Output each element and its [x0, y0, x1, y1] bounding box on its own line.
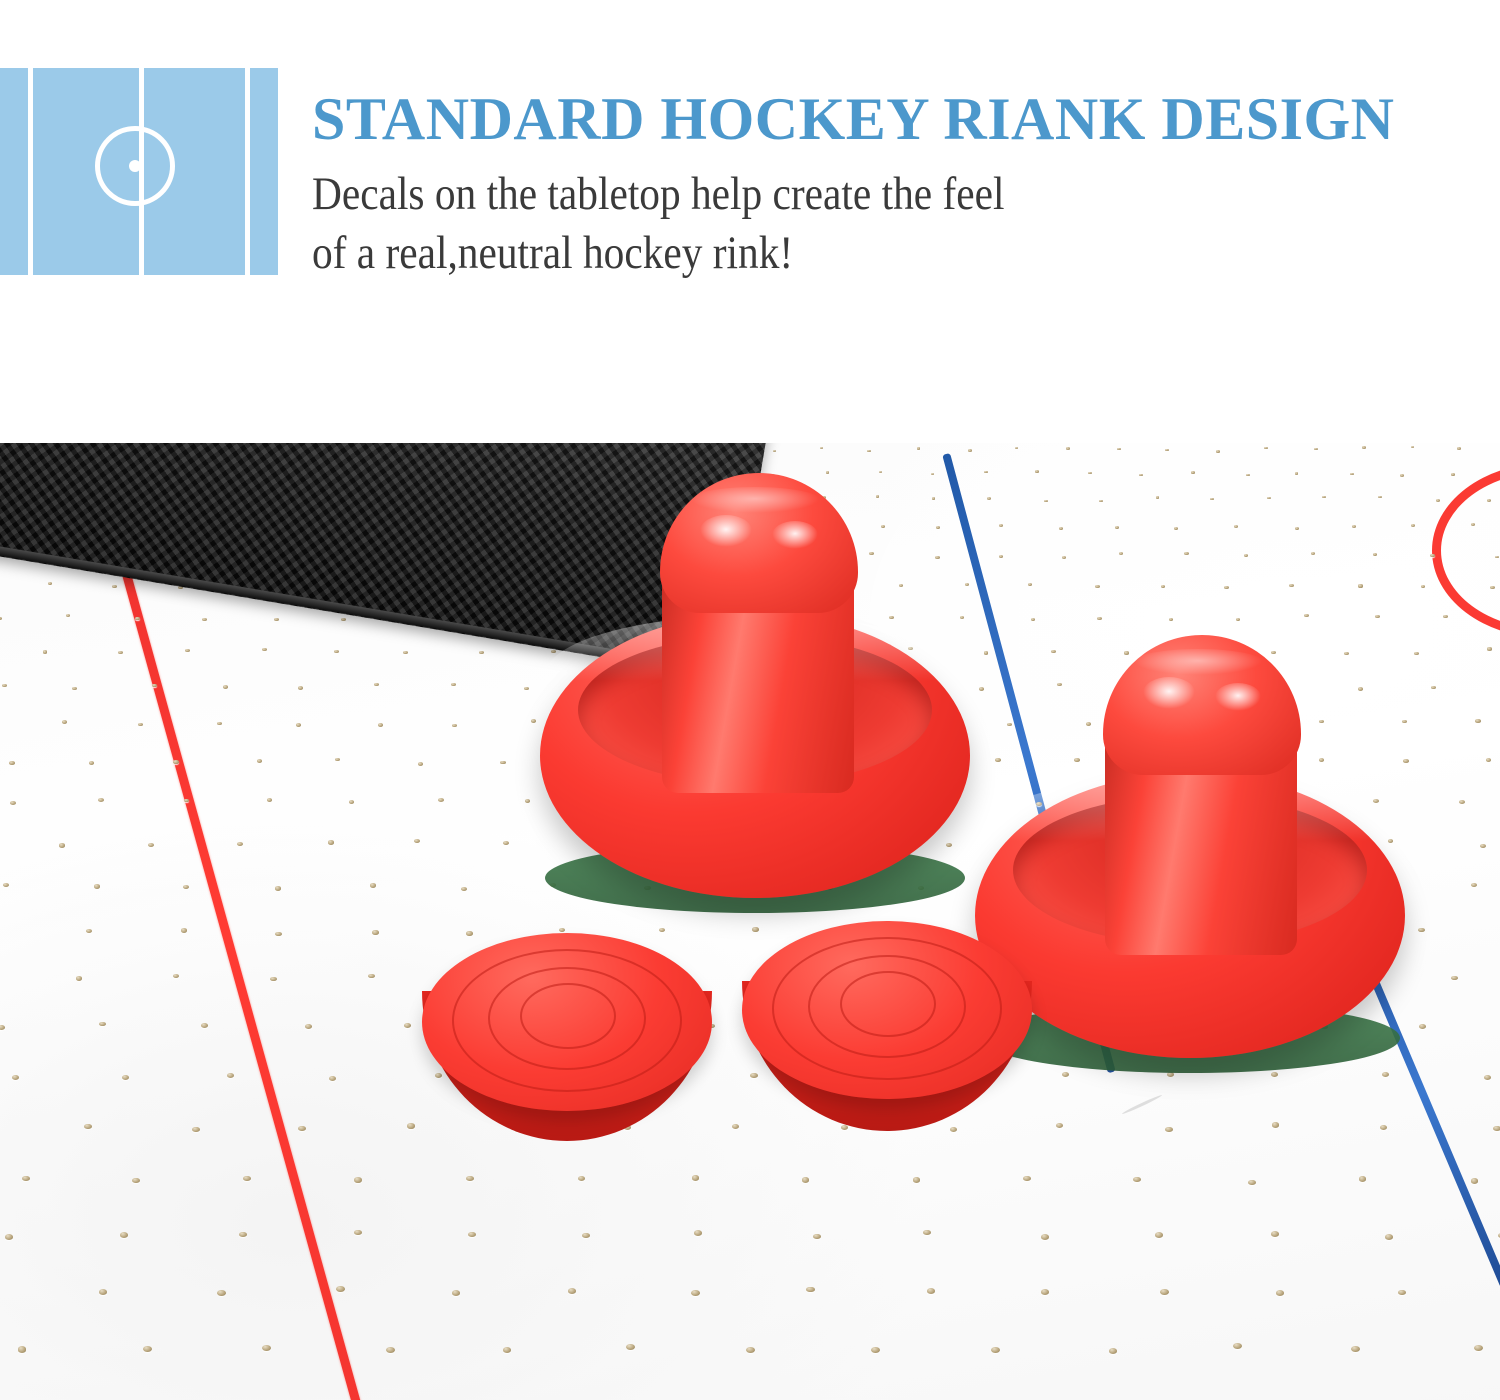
air-hole	[349, 800, 355, 804]
air-hole	[826, 471, 830, 474]
air-hole	[1486, 758, 1491, 762]
air-hole	[372, 930, 378, 934]
air-hole	[1295, 472, 1299, 475]
air-hole	[1271, 1231, 1279, 1237]
air-hole	[503, 1347, 512, 1353]
air-hole	[1174, 527, 1178, 530]
air-hole	[1490, 586, 1494, 589]
air-hole	[132, 1178, 140, 1183]
air-hole	[936, 526, 940, 529]
air-hole	[305, 1024, 312, 1029]
air-hole	[354, 1230, 362, 1236]
air-hole	[262, 648, 267, 651]
air-hole	[1358, 584, 1362, 587]
air-hole	[43, 650, 48, 653]
air-hole	[1028, 583, 1032, 586]
air-hole	[1051, 650, 1056, 653]
air-hole	[626, 1344, 635, 1350]
air-hole	[479, 651, 484, 654]
air-hole	[227, 1073, 234, 1078]
air-hole	[1184, 552, 1188, 555]
air-hole	[461, 887, 467, 891]
air-hole	[950, 1127, 957, 1132]
air-hole	[946, 843, 952, 847]
air-hole	[334, 650, 339, 653]
air-hole	[1380, 1125, 1387, 1130]
air-hole	[152, 684, 157, 687]
air-hole	[802, 1177, 810, 1182]
air-hole	[1487, 647, 1492, 650]
air-hole	[452, 724, 457, 728]
air-hole	[354, 1177, 362, 1182]
puck-groove-ring	[840, 971, 936, 1037]
air-hole	[1234, 525, 1238, 528]
air-hole	[135, 617, 140, 620]
air-hole	[89, 761, 94, 765]
air-hole	[257, 759, 262, 763]
air-hole	[1074, 758, 1079, 762]
air-hole	[274, 618, 279, 621]
air-hole	[503, 841, 509, 845]
air-hole	[917, 447, 921, 450]
air-hole	[1041, 1289, 1049, 1295]
air-hole	[270, 977, 277, 982]
air-hole	[1117, 448, 1121, 451]
air-hole	[999, 524, 1003, 527]
air-hole	[86, 929, 92, 933]
air-hole	[1246, 474, 1250, 477]
air-hockey-table-photo	[0, 443, 1500, 1400]
rink-panel-1	[0, 68, 28, 275]
air-hole	[1400, 474, 1404, 477]
air-hole	[76, 976, 83, 981]
air-hole	[217, 1290, 225, 1296]
air-hole	[752, 927, 758, 931]
air-hole	[551, 650, 556, 653]
air-hole	[531, 719, 536, 723]
air-hole	[1418, 928, 1424, 932]
air-hole	[1319, 758, 1324, 762]
air-hole	[435, 1073, 442, 1078]
air-hole	[867, 450, 871, 453]
air-hole	[328, 840, 334, 844]
air-hole	[908, 647, 913, 650]
air-hole	[138, 723, 143, 727]
air-hole	[1095, 585, 1099, 588]
air-hole	[336, 1286, 344, 1292]
air-hole	[1430, 554, 1434, 557]
subhead-text-line-2: of a real,neutral hockey rink!	[312, 225, 1368, 282]
air-hole	[12, 1075, 19, 1080]
air-hole	[370, 883, 376, 887]
air-hole	[1474, 1345, 1483, 1351]
air-hole	[1088, 472, 1092, 475]
air-hole	[1161, 585, 1165, 588]
rink-center-dot-icon	[129, 160, 141, 172]
air-hole	[1295, 527, 1299, 530]
air-hole	[368, 974, 375, 979]
air-hole	[1066, 447, 1070, 450]
air-hole	[1109, 1348, 1118, 1354]
product-feature-banner: STANDARD HOCKEY RIANK DESIGN Decals on t…	[0, 0, 1500, 1400]
air-hole	[1119, 552, 1123, 555]
air-hole	[1480, 844, 1486, 848]
air-hole	[1322, 496, 1326, 499]
air-hole	[965, 583, 969, 586]
air-hole	[120, 1232, 128, 1238]
air-hole	[201, 1023, 208, 1028]
air-hole	[148, 843, 154, 847]
air-hole	[407, 1123, 414, 1128]
air-hole	[746, 1347, 755, 1353]
air-hole	[923, 1230, 931, 1236]
air-hole	[691, 1290, 699, 1296]
air-hole	[806, 1287, 814, 1293]
air-hole	[5, 1234, 13, 1240]
air-hole	[1244, 554, 1248, 557]
air-hole	[750, 1073, 757, 1078]
air-hole	[267, 798, 273, 802]
air-hole	[1411, 446, 1415, 449]
air-hole	[1044, 500, 1048, 503]
air-hole	[1041, 1234, 1049, 1240]
air-hole	[1382, 1072, 1389, 1077]
air-hole	[374, 683, 379, 686]
air-hole	[1385, 1234, 1393, 1240]
air-hole	[968, 449, 972, 452]
air-hole	[1344, 652, 1349, 655]
air-hole	[582, 1233, 590, 1239]
air-hole	[451, 683, 456, 686]
air-hole	[1124, 651, 1129, 654]
air-hole	[335, 758, 340, 762]
air-hole	[2, 684, 7, 687]
air-hole	[979, 687, 984, 690]
air-hole	[202, 618, 207, 621]
air-hole	[403, 651, 408, 654]
air-hole	[1373, 553, 1377, 556]
air-hole	[999, 555, 1003, 558]
air-hole	[1031, 618, 1036, 621]
air-hole	[184, 799, 190, 803]
air-hole	[1403, 759, 1408, 763]
air-hole	[1248, 1180, 1256, 1185]
air-hole	[1224, 586, 1228, 589]
air-hole	[913, 1177, 921, 1182]
header-band: STANDARD HOCKEY RIANK DESIGN Decals on t…	[0, 0, 1500, 443]
subhead-text-line-1: Decals on the tabletop help create the f…	[312, 166, 1368, 223]
air-hole	[418, 762, 423, 766]
air-hole	[72, 687, 77, 690]
air-hole	[1165, 449, 1169, 452]
air-hole	[0, 1025, 5, 1030]
air-hole	[1062, 556, 1066, 559]
air-hole	[298, 686, 303, 689]
air-hole	[1191, 471, 1195, 474]
air-hole	[1451, 976, 1458, 981]
air-hole	[243, 1176, 251, 1181]
air-hole	[1160, 1289, 1168, 1295]
air-hole	[935, 556, 939, 559]
air-hole	[1375, 615, 1380, 618]
air-hole	[378, 723, 383, 727]
air-hole	[1304, 614, 1309, 617]
air-hole	[879, 471, 883, 474]
air-hole	[1421, 585, 1425, 588]
air-hole	[414, 839, 420, 843]
air-hole	[1484, 1075, 1491, 1080]
air-hole	[1487, 499, 1491, 502]
air-hole	[143, 1346, 152, 1352]
air-hole	[0, 617, 2, 620]
air-hole	[1350, 473, 1354, 476]
air-hole	[1443, 615, 1448, 618]
air-hole	[1015, 447, 1019, 450]
air-hole	[99, 1022, 106, 1027]
air-hole	[1352, 525, 1356, 528]
air-hole	[881, 525, 885, 528]
air-hole	[525, 799, 531, 803]
air-hole	[239, 1232, 247, 1238]
air-hole	[1314, 448, 1318, 451]
air-hole	[1133, 1177, 1141, 1182]
air-hole	[1271, 651, 1276, 654]
air-hole	[876, 495, 880, 498]
air-hole	[889, 616, 894, 619]
air-hole	[62, 720, 67, 724]
air-hole	[659, 928, 665, 932]
air-hole	[1169, 618, 1174, 621]
air-hole	[841, 1125, 848, 1130]
air-hole	[987, 497, 991, 500]
air-hole	[1062, 1072, 1069, 1077]
air-hole	[1359, 1176, 1367, 1181]
air-hole	[1099, 500, 1103, 503]
air-hole	[181, 928, 187, 932]
air-hole	[692, 1175, 700, 1180]
air-hole	[438, 798, 444, 802]
air-hole	[1057, 683, 1062, 686]
air-hole	[869, 552, 873, 555]
air-hole	[813, 1234, 821, 1240]
air-hole	[112, 585, 116, 588]
air-hole	[18, 1346, 27, 1352]
air-hole	[1471, 1178, 1479, 1183]
air-hole	[48, 582, 52, 585]
air-hole	[298, 1126, 305, 1131]
air-hole	[9, 761, 14, 765]
air-hole	[94, 884, 100, 888]
air-hole	[1210, 498, 1214, 501]
air-hole	[1411, 524, 1415, 527]
air-hole	[1471, 523, 1475, 526]
air-hole	[386, 1347, 395, 1353]
air-hole	[1023, 1176, 1031, 1181]
air-hole	[341, 618, 346, 621]
air-hole	[732, 1124, 739, 1129]
air-hole	[10, 801, 16, 805]
air-hole	[1036, 802, 1042, 806]
air-hole	[899, 584, 903, 587]
air-hole	[223, 685, 228, 688]
air-hole	[66, 614, 71, 617]
hockey-rink-diagram-icon	[0, 68, 278, 275]
air-hole	[185, 649, 190, 652]
air-hole	[1495, 556, 1499, 559]
air-hole	[1216, 450, 1220, 453]
air-hole	[59, 843, 65, 847]
air-hole	[1165, 1127, 1172, 1132]
air-hole	[1459, 800, 1465, 804]
air-hole	[1475, 719, 1480, 723]
air-hole	[1362, 446, 1366, 449]
air-hole	[1139, 474, 1143, 477]
air-hole	[1378, 496, 1382, 499]
air-hole	[931, 473, 935, 476]
air-hole	[500, 761, 505, 765]
air-hole	[1272, 1122, 1279, 1127]
air-hole	[217, 722, 222, 726]
air-hole	[1236, 618, 1241, 621]
air-hole	[404, 1023, 411, 1028]
air-hole	[871, 1347, 880, 1353]
air-hole	[927, 1288, 935, 1294]
air-hole	[694, 1230, 702, 1236]
air-hole	[1264, 447, 1268, 450]
puck-groove-ring	[520, 983, 616, 1049]
air-hole	[1311, 552, 1315, 555]
air-hole	[984, 651, 989, 654]
air-hole	[1267, 497, 1271, 500]
air-hole	[1351, 1346, 1360, 1352]
air-hole	[122, 1075, 129, 1080]
air-hole	[1035, 470, 1039, 473]
air-hole	[1457, 447, 1461, 450]
air-hole	[578, 1176, 586, 1181]
air-hole	[1493, 1126, 1500, 1131]
air-hole	[1156, 496, 1160, 499]
air-hole	[932, 497, 936, 500]
headline-text: STANDARD HOCKEY RIANK DESIGN	[312, 88, 1500, 150]
air-hole	[84, 1124, 91, 1129]
air-hole	[329, 1076, 336, 1081]
air-hole	[984, 471, 988, 474]
rink-panel-4	[250, 68, 278, 275]
air-hole	[1436, 499, 1440, 502]
air-hole	[1289, 584, 1293, 587]
air-hole	[118, 651, 123, 654]
air-hole	[275, 932, 281, 936]
air-hole	[99, 1289, 107, 1295]
air-hole	[1115, 526, 1119, 529]
air-hole	[3, 883, 9, 887]
air-hole	[559, 928, 565, 932]
air-hole	[22, 1176, 30, 1181]
air-hole	[296, 723, 301, 727]
air-hole	[568, 1288, 576, 1294]
air-hole	[452, 1290, 460, 1296]
air-hole	[192, 1127, 199, 1132]
air-hole	[991, 1347, 1000, 1353]
air-hole	[262, 1345, 271, 1351]
air-hole	[1402, 720, 1407, 724]
air-hole	[995, 758, 1000, 762]
air-hole	[1271, 1072, 1278, 1077]
air-hole	[1398, 1290, 1406, 1296]
air-hole	[1097, 617, 1102, 620]
air-hole	[1414, 652, 1419, 655]
air-hole	[98, 798, 104, 802]
air-hole	[1276, 1290, 1284, 1296]
air-hole	[1059, 527, 1063, 530]
air-hole	[960, 616, 965, 619]
air-hole	[1167, 1072, 1174, 1077]
air-hole	[466, 931, 472, 935]
air-hole	[1155, 1232, 1163, 1238]
air-hole	[1056, 1123, 1063, 1128]
air-hole	[173, 760, 178, 764]
air-hole	[1419, 1024, 1426, 1029]
air-hole	[524, 687, 529, 690]
air-hole	[183, 885, 189, 889]
air-hole	[1086, 722, 1091, 726]
air-hole	[1233, 1343, 1242, 1349]
air-hole	[1388, 839, 1394, 843]
air-hole	[1451, 473, 1455, 476]
air-hole	[1431, 686, 1436, 689]
air-hole	[468, 1232, 476, 1238]
air-hole	[1358, 687, 1363, 690]
air-hole	[466, 1176, 474, 1181]
air-hole	[1471, 883, 1477, 887]
air-hole	[1373, 799, 1379, 803]
air-hole	[820, 447, 824, 450]
air-hole	[173, 974, 180, 979]
air-hole	[773, 450, 777, 453]
air-hole	[1319, 720, 1324, 724]
headline-block: STANDARD HOCKEY RIANK DESIGN Decals on t…	[312, 88, 1500, 282]
air-hole	[275, 886, 281, 890]
air-hole	[237, 842, 243, 846]
air-hole	[1007, 723, 1012, 727]
